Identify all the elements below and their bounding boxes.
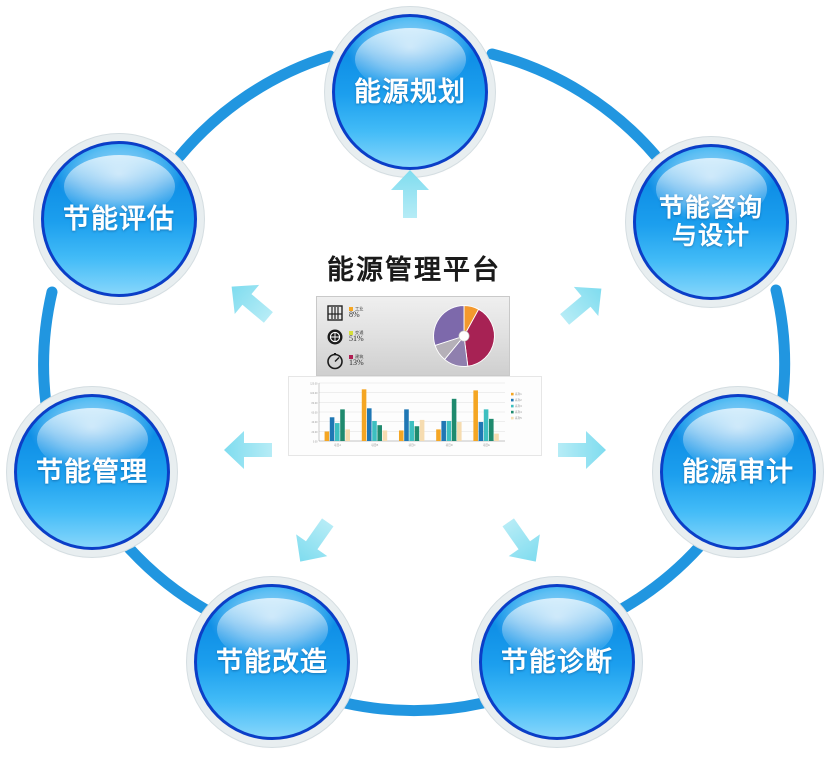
node-saving-management[interactable]: 节能管理 <box>14 394 170 550</box>
ring-arc <box>345 703 483 711</box>
pie-chart-area <box>413 297 509 375</box>
node-label-line: 能源规划 <box>354 77 466 107</box>
node-label-line: 节能咨询 <box>659 194 763 222</box>
x-tick-label: 项目B <box>371 443 378 447</box>
node-energy-audit[interactable]: 能源审计 <box>660 394 816 550</box>
legend-swatch <box>511 399 514 402</box>
kpi-row: 建筑13% <box>325 350 413 372</box>
gauge-icon <box>325 351 345 371</box>
x-tick-label: 项目A <box>334 443 341 447</box>
bar <box>479 422 484 441</box>
bar <box>325 432 330 441</box>
building-icon <box>325 303 345 323</box>
bar <box>441 421 446 441</box>
x-tick-label: 项目C <box>408 443 415 447</box>
bar <box>383 430 388 441</box>
legend-label: 系列4 <box>515 410 522 414</box>
arrow-to-energy-audit <box>556 424 608 476</box>
ring-arc <box>620 546 700 610</box>
legend-swatch <box>511 393 514 396</box>
node-label: 节能咨询与设计 <box>655 194 767 250</box>
arrow-glyph <box>556 424 608 476</box>
bar <box>372 421 377 441</box>
bar <box>335 423 340 441</box>
y-tick-label: 80.00 <box>312 402 319 405</box>
kpi-row: 工业8% <box>325 302 413 324</box>
node-saving-retrofit[interactable]: 节能改造 <box>194 584 350 740</box>
legend-label: 系列3 <box>515 404 522 408</box>
bar <box>473 390 478 441</box>
diagram-canvas: 能源规划节能咨询与设计能源审计节能诊断节能改造节能管理节能评估 能源管理平台 工… <box>0 0 828 758</box>
bar <box>409 421 414 441</box>
bar <box>457 422 462 441</box>
pie-chart <box>429 301 499 371</box>
kpi-panel: 工业8%交通51%建筑13% <box>316 296 510 376</box>
arrow-glyph <box>222 424 274 476</box>
bar <box>340 409 345 441</box>
legend-label: 系列1 <box>515 392 522 396</box>
arrow-glyph <box>384 168 436 220</box>
node-label: 节能诊断 <box>497 647 617 677</box>
bar <box>415 426 420 441</box>
node-label: 能源审计 <box>678 457 798 487</box>
kpi-text: 建筑13% <box>349 355 364 368</box>
legend-swatch <box>511 405 514 408</box>
kpi-text: 工业8% <box>349 307 363 320</box>
arrow-to-saving-management <box>222 424 274 476</box>
bar <box>420 420 425 441</box>
bar <box>362 389 367 441</box>
legend-label: 系列2 <box>515 398 522 402</box>
bar <box>452 399 457 441</box>
y-tick-label: 120.00 <box>310 383 318 386</box>
bar-chart: 0.0020.0040.0060.0080.00100.00120.00项目A项… <box>289 377 541 455</box>
center-title: 能源管理平台 <box>0 248 828 287</box>
node-label-line: 节能评估 <box>63 204 175 234</box>
bar <box>330 417 335 441</box>
factory-icon <box>325 327 345 347</box>
node-label-line: 能源审计 <box>682 457 794 487</box>
kpi-value: 51% <box>349 335 364 344</box>
ring-arc <box>180 56 330 156</box>
node-label-line: 节能诊断 <box>501 647 613 677</box>
bar <box>367 408 372 441</box>
y-tick-label: 100.00 <box>310 392 318 395</box>
bar-chart-panel: 0.0020.0040.0060.0080.00100.00120.00项目A项… <box>288 376 542 456</box>
kpi-value: 8% <box>349 311 363 320</box>
legend-swatch <box>511 417 514 420</box>
bar <box>345 429 350 441</box>
x-tick-label: 项目E <box>483 443 490 447</box>
bar <box>447 421 452 441</box>
bar <box>377 425 382 441</box>
node-label: 节能改造 <box>212 647 332 677</box>
kpi-row: 交通51% <box>325 326 413 348</box>
node-saving-diagnosis[interactable]: 节能诊断 <box>479 584 635 740</box>
node-label-line: 与设计 <box>659 222 763 250</box>
node-energy-planning[interactable]: 能源规划 <box>332 14 488 170</box>
ring-arc <box>776 290 785 405</box>
legend-label: 系列5 <box>515 416 522 420</box>
ring-arc <box>492 54 655 155</box>
node-label: 节能评估 <box>59 204 179 234</box>
y-tick-label: 60.00 <box>312 412 319 415</box>
legend-swatch <box>511 411 514 414</box>
y-tick-label: 40.00 <box>312 421 319 424</box>
bar <box>404 409 409 441</box>
bar <box>484 409 489 441</box>
arrow-to-energy-planning <box>384 168 436 220</box>
ring-arc <box>128 547 208 611</box>
node-label-line: 节能改造 <box>216 647 328 677</box>
kpi-value: 13% <box>349 359 364 368</box>
node-label-line: 节能管理 <box>36 457 148 487</box>
gauge-icon <box>325 351 345 371</box>
pie-center-label <box>459 331 469 341</box>
bar <box>489 419 494 441</box>
node-label: 节能管理 <box>32 457 152 487</box>
kpi-legend: 工业8%交通51%建筑13% <box>317 297 413 375</box>
y-tick-label: 20.00 <box>312 431 319 434</box>
x-tick-label: 项目D <box>446 443 453 447</box>
bar <box>436 429 441 441</box>
node-label: 能源规划 <box>350 77 470 107</box>
energy-dashboard-graphic: 工业8%交通51%建筑13% 0.0020.0040.0060.0080.001… <box>288 296 540 476</box>
bar <box>399 430 404 441</box>
ring-arc <box>44 292 52 404</box>
bar <box>494 434 499 441</box>
kpi-text: 交通51% <box>349 331 364 344</box>
y-tick-label: 0.00 <box>313 441 318 444</box>
building-icon <box>325 303 345 323</box>
factory-icon <box>325 327 345 347</box>
